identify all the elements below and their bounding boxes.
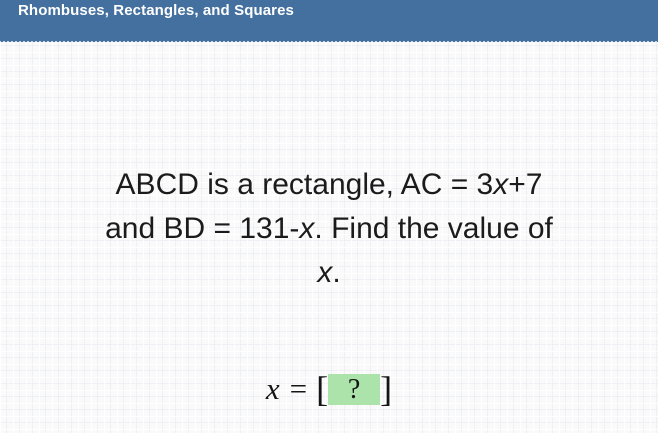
question-line-2-text-a: and BD = 131-	[105, 212, 299, 245]
question-line-1-text-b: +7	[508, 168, 542, 201]
question-line-2: and BD = 131-x. Find the value of	[0, 207, 658, 251]
answer-input-group[interactable]: [?]	[316, 372, 392, 408]
question-line-2-variable: x	[299, 212, 314, 245]
question-line-3-variable: x	[317, 256, 332, 289]
header-scallop-edge-decoration	[0, 40, 658, 46]
slide-canvas: Rhombuses, Rectangles, and Squares ABCD …	[0, 0, 658, 433]
question-line-2-text-b: . Find the value of	[314, 212, 552, 245]
answer-row: x=[?]	[0, 372, 658, 408]
bracket-open: [	[316, 371, 328, 407]
question-text: ABCD is a rectangle, AC = 3x+7 and BD = …	[0, 163, 658, 295]
answer-input[interactable]: ?	[328, 374, 380, 405]
question-line-1-text-a: ABCD is a rectangle, AC = 3	[116, 168, 494, 201]
bracket-close: ]	[380, 371, 392, 407]
question-line-3: x.	[0, 251, 658, 295]
answer-variable-label: x	[266, 371, 280, 407]
question-line-1: ABCD is a rectangle, AC = 3x+7	[0, 163, 658, 207]
question-line-1-variable: x	[493, 168, 508, 201]
page-title: Rhombuses, Rectangles, and Squares	[18, 2, 294, 19]
header-banner: Rhombuses, Rectangles, and Squares	[0, 0, 658, 40]
equals-sign: =	[290, 371, 307, 407]
question-line-3-text-b: .	[332, 256, 340, 289]
